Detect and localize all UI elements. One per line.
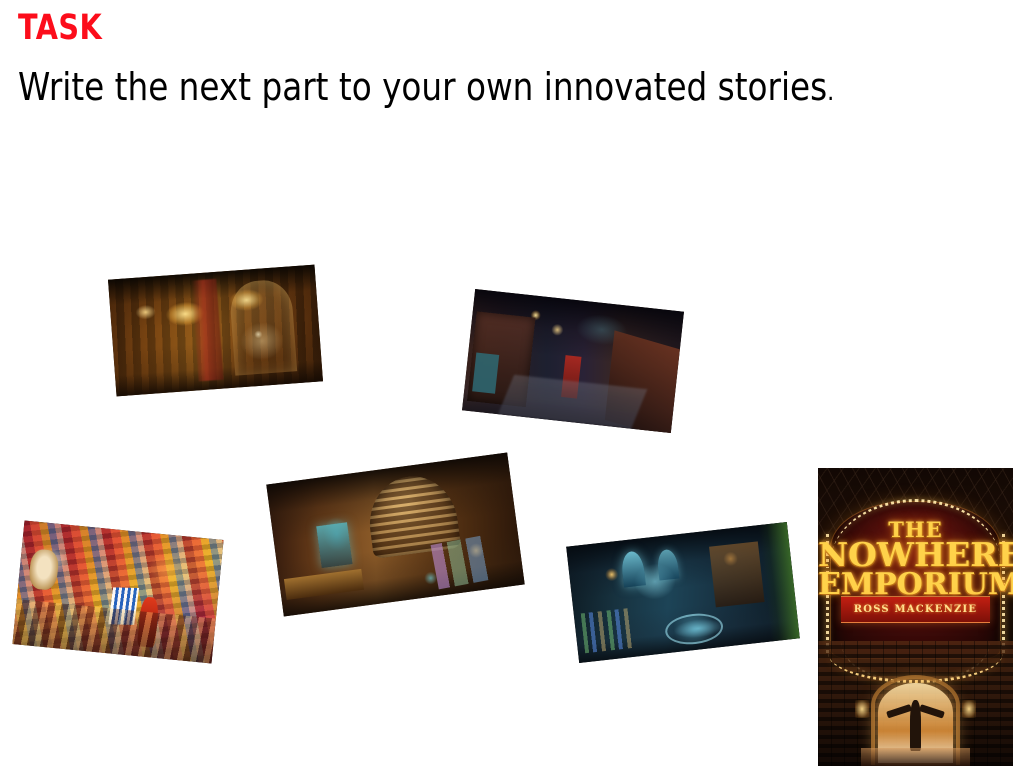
- arched-window-secondary-detail: [656, 549, 679, 581]
- slide-canvas: TASK Write the next part to your own inn…: [0, 0, 1024, 768]
- task-instruction: Write the next part to your own innovate…: [18, 58, 859, 121]
- page-title: TASK: [18, 6, 820, 50]
- task-instruction-period: .: [827, 77, 834, 107]
- arched-window-detail: [620, 550, 646, 587]
- book-title-line-2: NOWHERE: [818, 538, 1013, 571]
- text-block: TASK Write the next part to your own inn…: [16, 6, 996, 121]
- book-title: THE NOWHERE EMPORIUM: [818, 519, 1013, 600]
- crowd-detail: [12, 600, 215, 664]
- alchemy-lab-image: [566, 522, 800, 663]
- silhouette-figure-detail: [910, 700, 922, 751]
- task-instruction-text: Write the next part to your own innovate…: [18, 65, 827, 109]
- vines-detail: [758, 522, 800, 641]
- blue-door-detail: [472, 353, 499, 394]
- market-bazaar-image: [12, 521, 223, 664]
- magic-shop-interior-photo[interactable]: [266, 453, 524, 617]
- book-cover-image: THE NOWHERE EMPORIUM ROSS MACKENZIE: [818, 468, 1013, 766]
- alchemy-lab-photo[interactable]: [566, 522, 800, 663]
- golden-hall-image: [108, 265, 323, 397]
- arch-detail: [229, 278, 298, 376]
- lamp-right-icon: [962, 700, 976, 718]
- rune-circle-detail: [663, 611, 724, 648]
- diagon-alley-image: [462, 289, 684, 433]
- curtain-detail: [191, 279, 223, 381]
- book-author: ROSS MACKENZIE: [854, 604, 977, 615]
- book-cover-photo[interactable]: THE NOWHERE EMPORIUM ROSS MACKENZIE: [818, 468, 1013, 766]
- market-bazaar-photo[interactable]: [12, 521, 223, 664]
- golden-hall-photo[interactable]: [108, 265, 323, 397]
- magic-shop-image: [266, 453, 524, 617]
- potion-bottles-detail: [580, 608, 633, 653]
- glowing-window-detail: [316, 522, 353, 568]
- lamp-left-icon: [855, 700, 869, 718]
- hearth-detail: [709, 542, 764, 608]
- floor-detail: [861, 748, 970, 766]
- counter-detail: [284, 569, 364, 600]
- diagon-alley-photo[interactable]: [462, 289, 684, 433]
- author-banner: ROSS MACKENZIE: [841, 596, 989, 623]
- mask-detail: [28, 549, 60, 591]
